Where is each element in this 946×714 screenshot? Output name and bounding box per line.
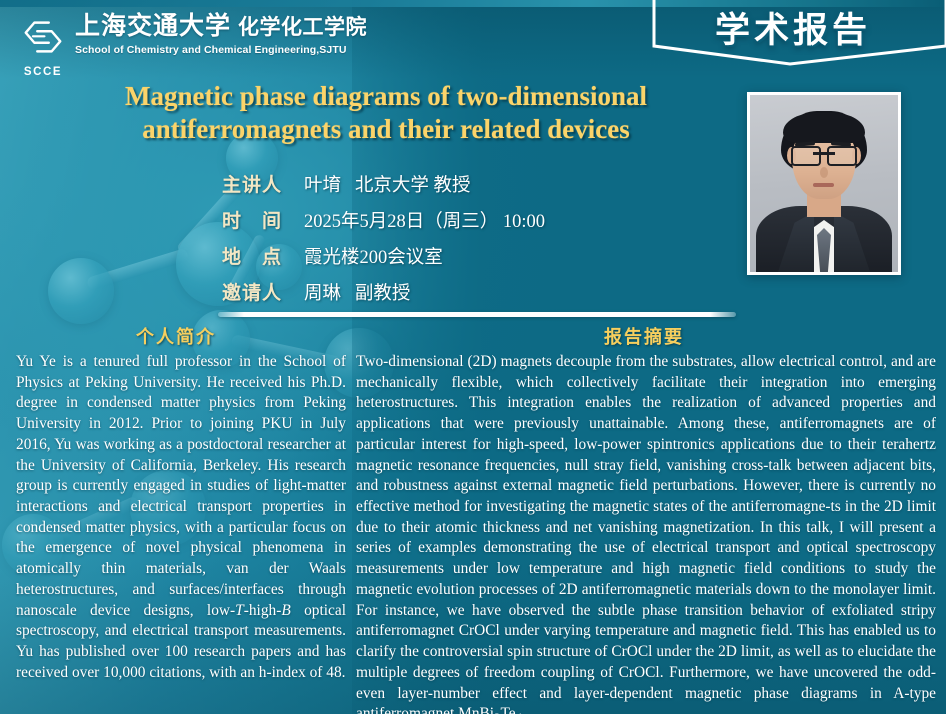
portrait-nose — [820, 167, 828, 178]
logo-mark-block: SCCE — [20, 14, 66, 78]
info-value-location: 霞光楼200会议室 — [304, 243, 443, 269]
info-label-speaker: 主讲人 — [222, 170, 304, 197]
abstract-text: Two-dimensional (2D) magnets decouple fr… — [356, 352, 936, 714]
info-label-location: 地 点 — [222, 242, 304, 269]
section-divider — [218, 312, 736, 317]
logo-university-cn: 上海交通大学 — [75, 14, 231, 39]
section-heading-biography: 个人简介 — [136, 323, 216, 349]
speaker-photo — [747, 92, 901, 275]
seminar-poster: SCCE 上海交通大学 化学化工学院 School of Chemistry a… — [0, 0, 946, 714]
talk-info-block: 主讲人 叶堉 北京大学 教授 时 间 2025年5月28日（周三） 10:00 … — [222, 170, 742, 314]
talk-title: Magnetic phase diagrams of two-dimension… — [36, 80, 736, 146]
logo-school-en: School of Chemistry and Chemical Enginee… — [75, 44, 367, 56]
info-value-time: 2025年5月28日（周三） 10:00 — [304, 207, 545, 233]
info-value-speaker: 叶堉 北京大学 教授 — [304, 171, 471, 197]
abstract-paragraph: Two-dimensional (2D) magnets decouple fr… — [356, 352, 936, 714]
sjtu-scce-logo: SCCE 上海交通大学 化学化工学院 School of Chemistry a… — [20, 14, 367, 78]
logo-text-block: 上海交通大学 化学化工学院 School of Chemistry and Ch… — [75, 14, 367, 56]
biography-paragraph: Yu Ye is a tenured full professor in the… — [16, 352, 346, 684]
section-heading-abstract: 报告摘要 — [604, 323, 684, 349]
biography-text: Yu Ye is a tenured full professor in the… — [16, 352, 346, 684]
logo-chinese-line: 上海交通大学 化学化工学院 — [75, 14, 367, 39]
info-row-speaker: 主讲人 叶堉 北京大学 教授 — [222, 170, 742, 197]
logo-abbr: SCCE — [20, 66, 66, 78]
portrait-mouth — [813, 183, 834, 187]
info-row-location: 地 点 霞光楼200会议室 — [222, 242, 742, 269]
info-row-host: 邀请人 周琳 副教授 — [222, 278, 742, 305]
logo-school-cn: 化学化工学院 — [238, 17, 367, 38]
info-value-host: 周琳 副教授 — [304, 279, 410, 305]
academic-report-ribbon: 学术报告 — [640, 0, 946, 70]
info-row-time: 时 间 2025年5月28日（周三） 10:00 — [222, 206, 742, 233]
portrait-fringe — [783, 113, 865, 143]
portrait-glasses-bridge — [813, 152, 835, 155]
ribbon-label: 学术报告 — [640, 2, 946, 53]
info-label-time: 时 间 — [222, 206, 304, 233]
speaker-portrait-image — [750, 95, 898, 272]
scce-hexagon-logo-icon — [20, 14, 66, 60]
info-label-host: 邀请人 — [222, 278, 304, 305]
